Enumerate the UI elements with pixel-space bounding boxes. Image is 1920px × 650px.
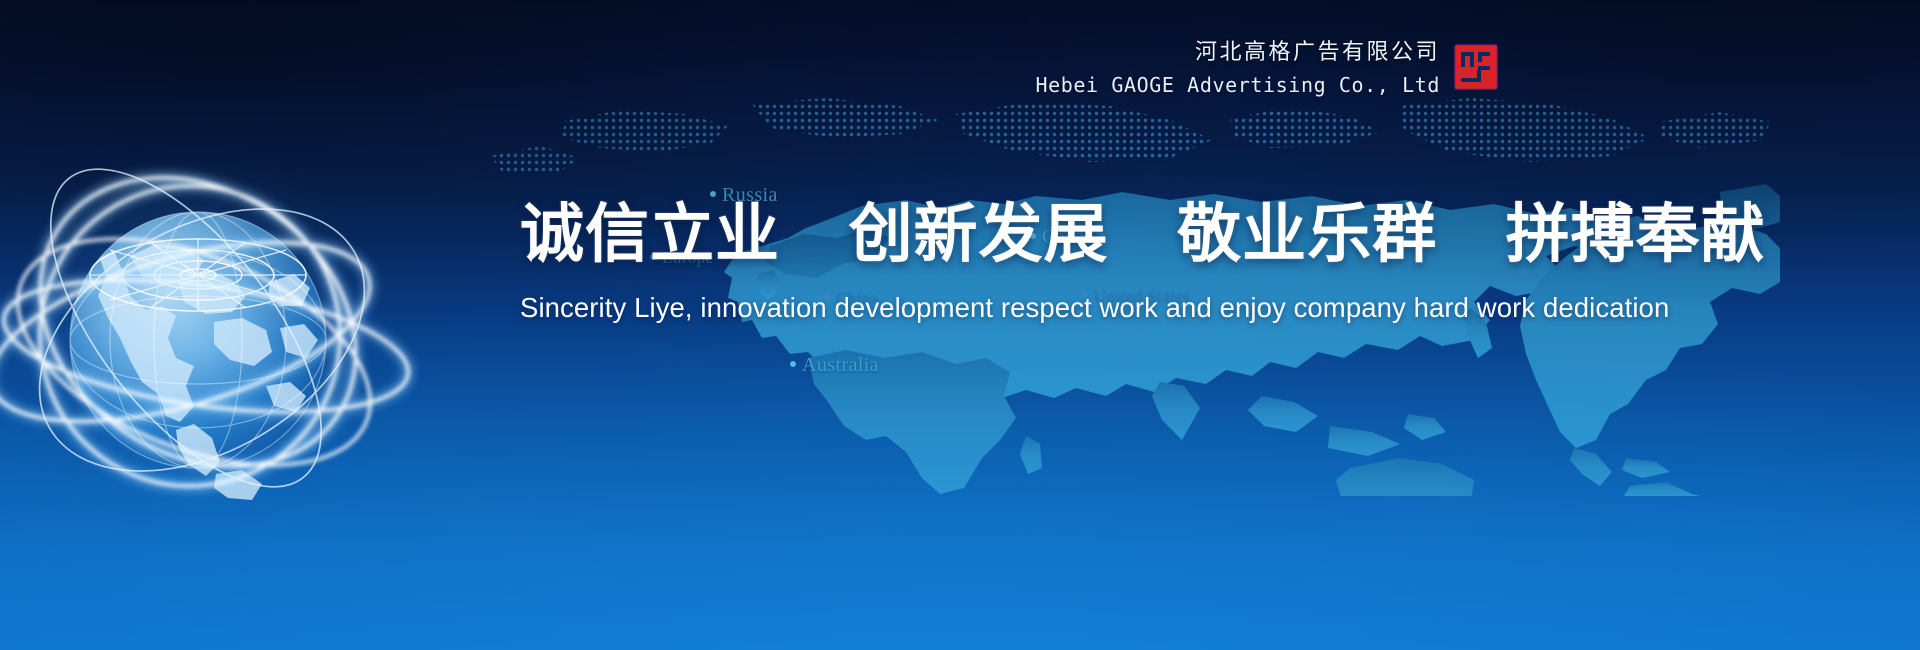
slogan-english: Sincerity Liye, innovation development r… [520,288,1860,328]
slogan-part-4: 拼搏奉献 [1506,198,1766,272]
slogan-block: 诚信立业 创新发展 敬业乐群 拼搏奉献 Sincerity Liye, inno… [520,196,1860,328]
slogan-part-3: 敬业乐群 [1177,198,1437,272]
map-label-australia: Australia [790,354,879,377]
slogan-part-2: 创新发展 [849,198,1109,272]
company-name-en: Hebei GAOGE Advertising Co., Ltd [1035,70,1440,100]
slogan-chinese: 诚信立业 创新发展 敬业乐群 拼搏奉献 [520,196,1860,274]
orbiting-globe-graphic [0,100,420,560]
map-pin-icon [790,361,796,367]
promo-banner: Russia Canada Europe China United States… [0,0,1920,650]
company-name-cn: 河北高格广告有限公司 [1035,38,1440,68]
company-identity: 河北高格广告有限公司 Hebei GAOGE Advertising Co., … [1035,38,1440,100]
gaoge-logo-icon [1454,44,1498,90]
slogan-part-1: 诚信立业 [520,198,780,272]
